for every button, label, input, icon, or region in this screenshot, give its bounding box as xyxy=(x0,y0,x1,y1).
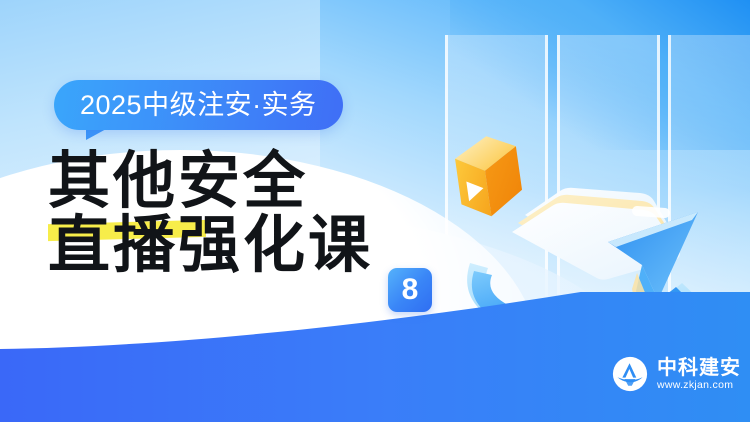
headline-line-2: 直播强化课 xyxy=(48,214,373,278)
headline-line-1-row: 其他安全 xyxy=(48,150,468,214)
brand-url: www.zkjan.com xyxy=(657,380,741,391)
episode-number: 8 xyxy=(402,275,419,305)
headline-block: 其他安全 直播强化课 xyxy=(48,150,468,278)
course-category-badge: 2025中级注安·实务 xyxy=(54,80,343,130)
brand-name: 中科建安 xyxy=(657,358,741,378)
headline-line-1: 其他安全 xyxy=(48,150,308,214)
episode-number-badge: 8 xyxy=(388,268,432,312)
brand-logo-text: 中科建安 www.zkjan.com xyxy=(657,358,741,391)
brand-logo-icon xyxy=(612,356,648,392)
badge-label: 2025中级注安·实务 xyxy=(80,92,317,119)
course-banner: 2025中级注安·实务 其他安全 直播强化课 8 中科建安 www.zkjan.… xyxy=(0,0,750,422)
brand-logo[interactable]: 中科建安 www.zkjan.com xyxy=(612,356,741,392)
